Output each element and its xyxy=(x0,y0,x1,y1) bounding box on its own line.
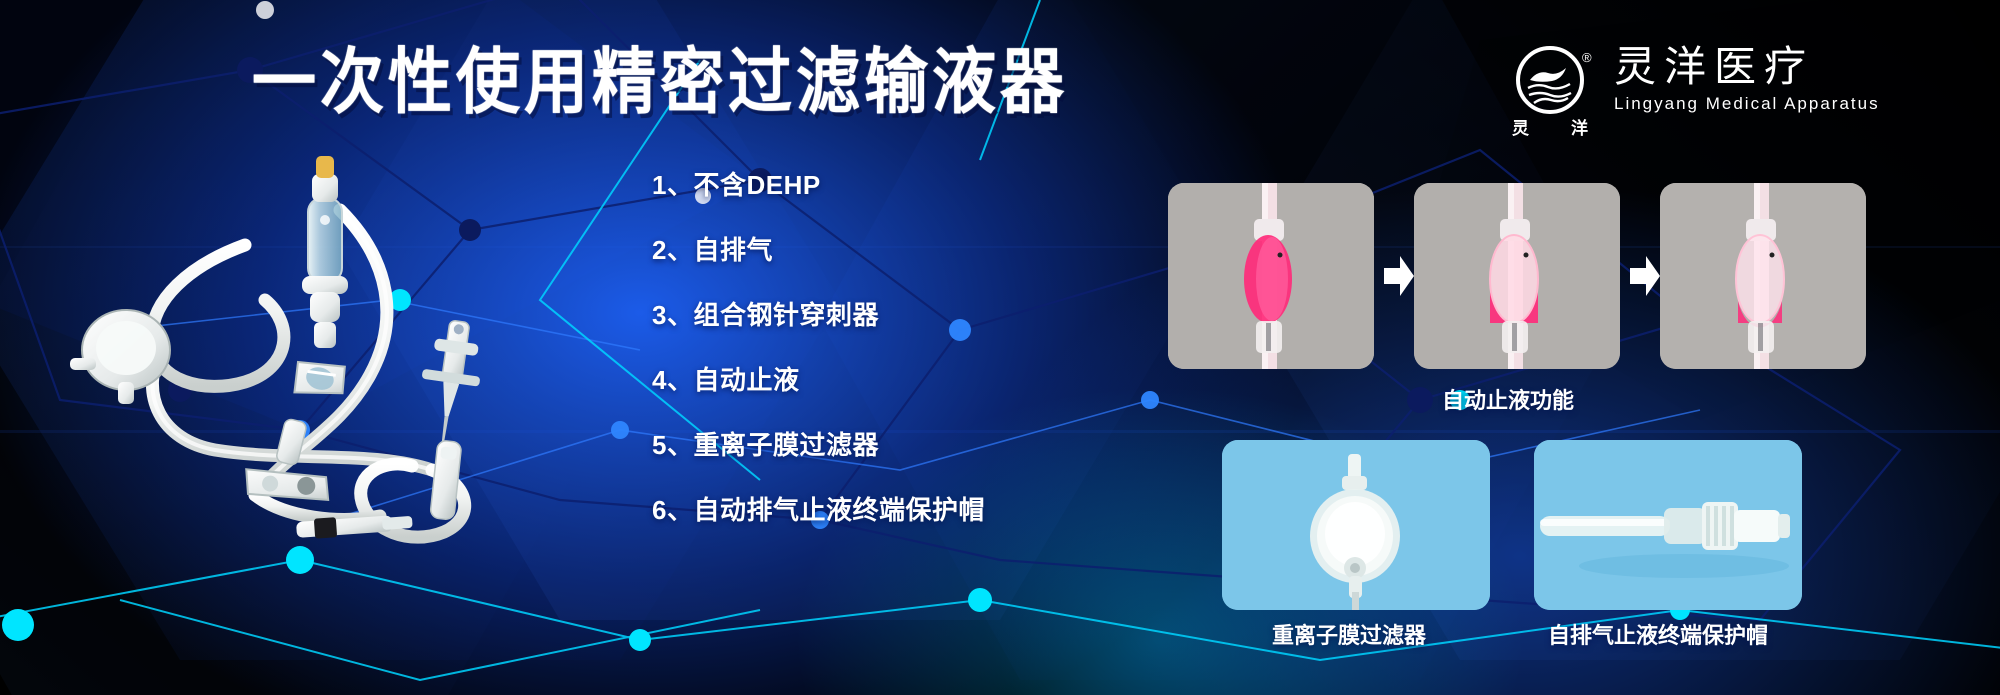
photo-drip-chamber-half xyxy=(1414,183,1620,369)
photo-drip-chamber-stopped xyxy=(1660,183,1866,369)
logo-mark-char-left: 灵 xyxy=(1512,114,1529,139)
logo-mark-char-right: 洋 xyxy=(1571,114,1588,139)
photo-drip-chamber-full xyxy=(1168,183,1374,369)
feature-list: 1、不含DEHP 2、自排气 3、组合钢针穿刺器 4、自动止液 5、重离子膜过滤… xyxy=(652,172,972,523)
logo-emblem-icon: ® 灵 洋 xyxy=(1510,44,1596,136)
arrow-right-icon-1 xyxy=(1382,254,1416,298)
caption-auto-stop: 自动止液功能 xyxy=(1442,383,1574,415)
photo-heavy-ion-filter xyxy=(1222,440,1490,610)
infusion-set-product-photo xyxy=(40,150,660,550)
wave-bird-icon xyxy=(1520,50,1580,110)
registered-mark: ® xyxy=(1582,50,1592,65)
caption-terminal-cap: 自排气止液终端保护帽 xyxy=(1548,618,1768,650)
brand-name-en: Lingyang Medical Apparatus xyxy=(1614,94,1880,114)
photo-terminal-cap xyxy=(1534,440,1802,610)
brand-logo: ® 灵 洋 灵洋医疗 Lingyang Medical Apparatus xyxy=(1510,44,1880,136)
feature-item-1: 1、不含DEHP xyxy=(652,172,972,198)
feature-item-5: 5、重离子膜过滤器 xyxy=(652,432,972,458)
feature-item-4: 4、自动止液 xyxy=(652,367,972,393)
page-title: 一次性使用精密过滤输液器 xyxy=(252,46,1068,118)
feature-item-6: 6、自动排气止液终端保护帽 xyxy=(652,497,972,523)
brand-name-cn: 灵洋医疗 xyxy=(1614,46,1880,90)
product-banner: 一次性使用精密过滤输液器 ® 灵 洋 灵洋医疗 Lingyang Medical… xyxy=(0,0,2000,695)
caption-filter: 重离子膜过滤器 xyxy=(1272,618,1426,650)
feature-item-3: 3、组合钢针穿刺器 xyxy=(652,302,972,328)
feature-item-2: 2、自排气 xyxy=(652,237,972,263)
arrow-right-icon-2 xyxy=(1628,254,1662,298)
